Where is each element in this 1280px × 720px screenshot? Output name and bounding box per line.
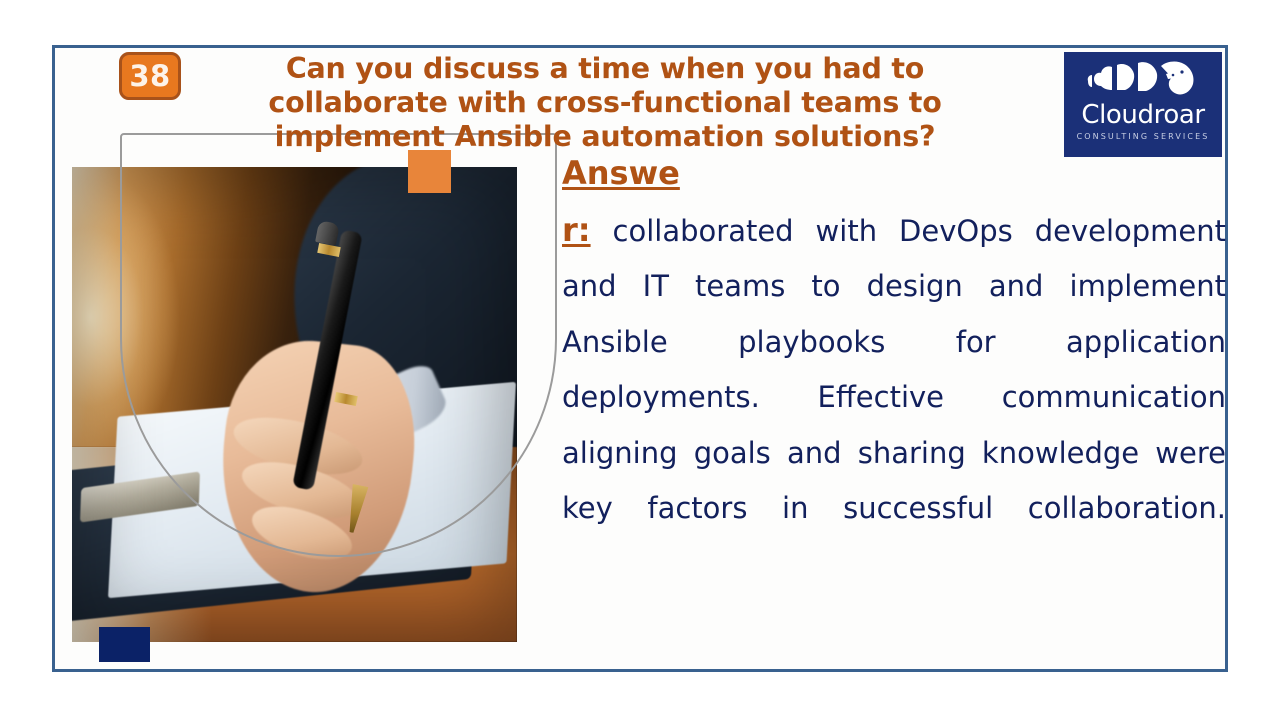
accent-square-navy [99, 627, 150, 662]
accent-square-orange [408, 150, 451, 193]
page-title: Can you discuss a time when you had to c… [196, 52, 1014, 154]
logo-tagline: CONSULTING SERVICES [1064, 132, 1222, 142]
slide-canvas: 38 Can you discuss a time when you had t… [0, 0, 1280, 720]
logo-brand-name: Cloudroar [1064, 100, 1222, 130]
photo-vignette [72, 167, 517, 642]
company-logo: Cloudroar CONSULTING SERVICES [1064, 52, 1222, 157]
question-number-text: 38 [129, 62, 170, 91]
answer-label-part2: r: [562, 211, 591, 249]
question-number-badge: 38 [119, 52, 181, 100]
illustration-photo [72, 167, 517, 642]
answer-text-block: Answe r: collaborated with DevOps develo… [562, 146, 1226, 592]
answer-body-text: collaborated with DevOps development and… [562, 214, 1226, 526]
lion-cloud-icon [1087, 56, 1199, 104]
answer-label-part1: Answe [562, 154, 680, 192]
answer-panel: Answe r: collaborated with DevOps develo… [562, 146, 1226, 646]
